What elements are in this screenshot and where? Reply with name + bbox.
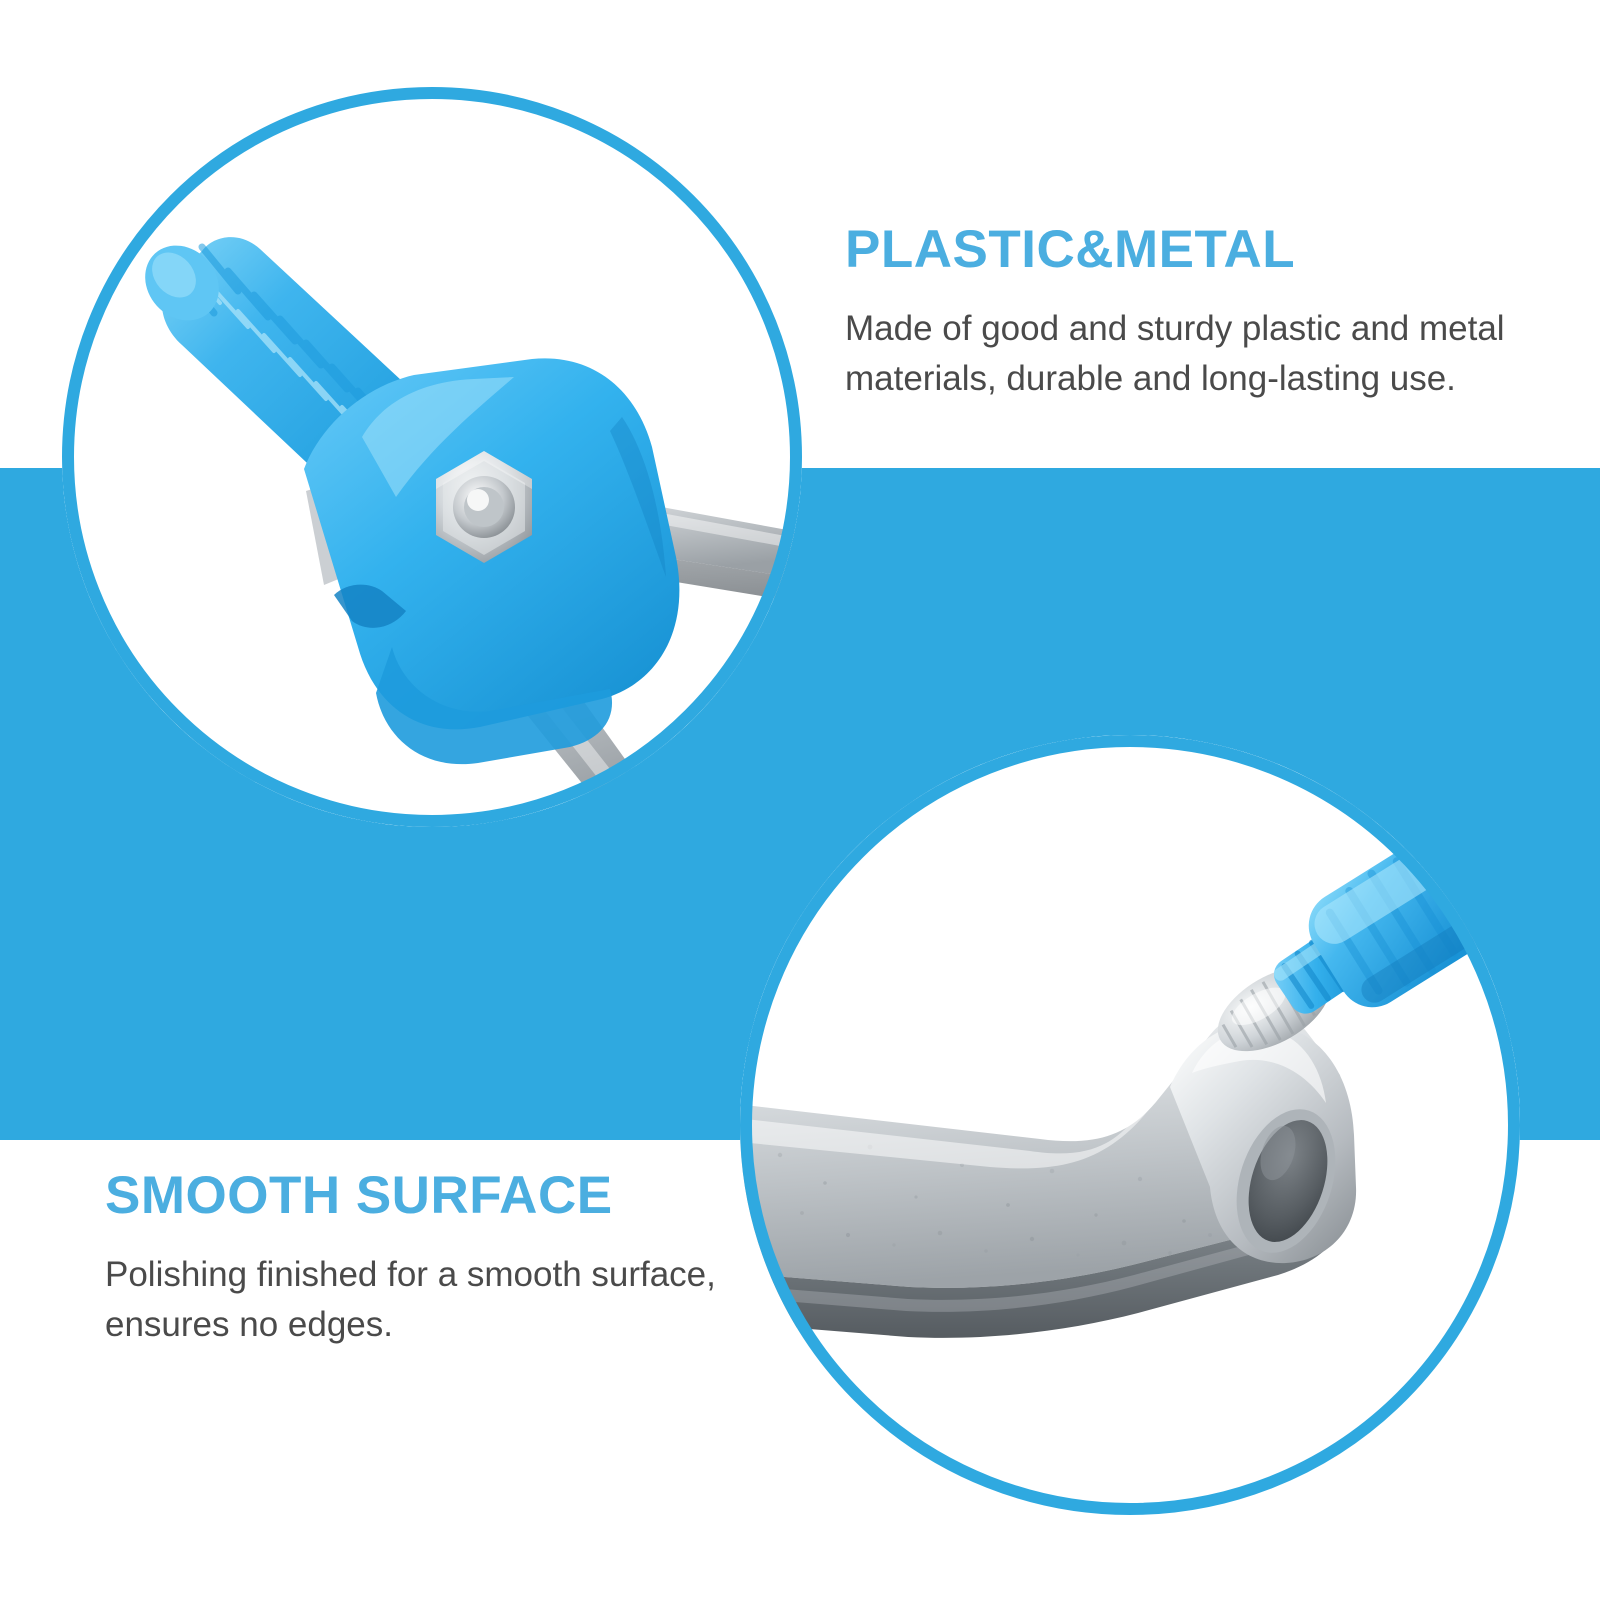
feature-description-line: ensures no edges. bbox=[105, 1300, 805, 1351]
feature-description-smooth-surface: Polishing finished for a smooth surface,… bbox=[105, 1250, 805, 1352]
product-photo-circle-handle bbox=[62, 87, 802, 827]
feature-block-plastic-metal: PLASTIC&METAL Made of good and sturdy pl… bbox=[845, 222, 1535, 405]
feature-title-smooth-surface: SMOOTH SURFACE bbox=[105, 1168, 805, 1224]
product-photo-circle-tip bbox=[740, 735, 1520, 1515]
feature-description-plastic-metal: Made of good and sturdy plastic and meta… bbox=[845, 304, 1535, 406]
promo-canvas: PLASTIC&METAL Made of good and sturdy pl… bbox=[0, 0, 1600, 1600]
feature-description-line: Made of good and sturdy plastic and meta… bbox=[845, 304, 1535, 355]
feature-description-line: Polishing finished for a smooth surface, bbox=[105, 1250, 805, 1301]
feature-description-line: materials, durable and long-lasting use. bbox=[845, 354, 1535, 405]
product-photo-icon bbox=[740, 735, 1520, 1515]
product-photo-icon bbox=[62, 87, 802, 827]
feature-block-smooth-surface: SMOOTH SURFACE Polishing finished for a … bbox=[105, 1168, 805, 1351]
feature-title-plastic-metal: PLASTIC&METAL bbox=[845, 222, 1535, 278]
